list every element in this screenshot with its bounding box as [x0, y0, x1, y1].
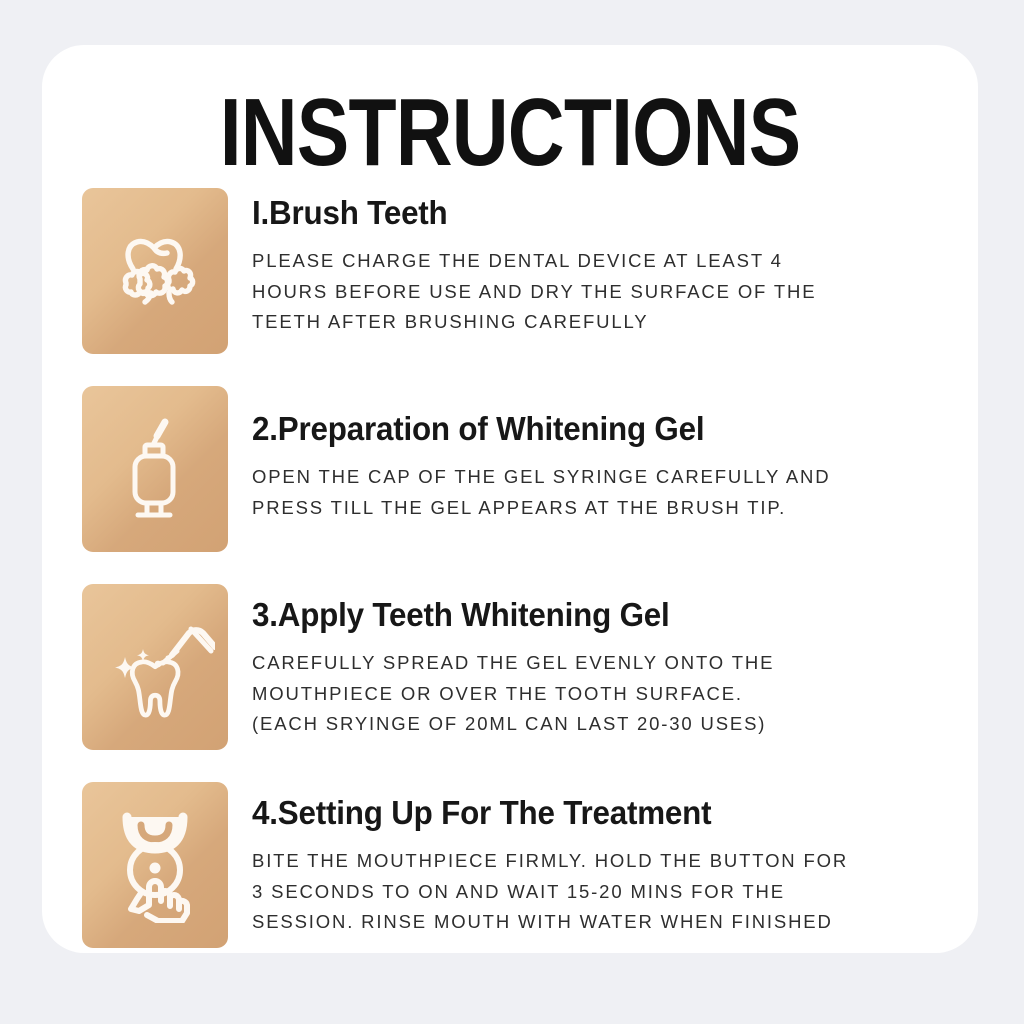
step-heading: 4.Setting Up For The Treatment: [252, 794, 942, 832]
description-line: OPEN THE CAP OF THE GEL SYRINGE CAREFULL…: [252, 462, 978, 493]
tooth-with-gel-applicator-icon: [95, 607, 215, 727]
description-line: SESSION. RINSE MOUTH WITH WATER WHEN FIN…: [252, 907, 978, 938]
description-line: PLEASE CHARGE THE DENTAL DEVICE AT LEAST…: [252, 246, 978, 277]
step-heading: 3.Apply Teeth Whitening Gel: [252, 596, 942, 634]
description-line: PRESS TILL THE GEL APPEARS AT THE BRUSH …: [252, 493, 978, 524]
description-line: (EACH SRYINGE OF 20ML CAN LAST 20-30 USE…: [252, 709, 978, 740]
description-line: TEETH AFTER BRUSHING CAREFULLY: [252, 307, 978, 338]
instructions-card: INSTRUCTIONS: [42, 45, 978, 953]
tooth-with-foam-icon: [107, 223, 203, 319]
step-description: OPEN THE CAP OF THE GEL SYRINGE CAREFULL…: [252, 462, 978, 523]
description-line: CAREFULLY SPREAD THE GEL EVENLY ONTO THE: [252, 648, 978, 679]
step-icon-tile: [82, 584, 228, 750]
description-line: 3 SECONDS TO ON AND WAIT 15-20 MINS FOR …: [252, 877, 978, 908]
instructions-page: INSTRUCTIONS: [0, 0, 1024, 1024]
gel-syringe-icon: [107, 414, 203, 524]
description-line: MOUTHPIECE OR OVER THE TOOTH SURFACE.: [252, 679, 978, 710]
list-item: 3.Apply Teeth Whitening Gel CAREFULLY SP…: [82, 584, 978, 750]
list-item: 4.Setting Up For The Treatment BITE THE …: [82, 782, 978, 948]
list-item: I.Brush Teeth PLEASE CHARGE THE DENTAL D…: [82, 188, 978, 354]
description-line: BITE THE MOUTHPIECE FIRMLY. HOLD THE BUT…: [252, 846, 978, 877]
description-line: HOURS BEFORE USE AND DRY THE SURFACE OF …: [252, 277, 978, 308]
step-icon-tile: [82, 782, 228, 948]
page-title: INSTRUCTIONS: [126, 83, 894, 183]
step-icon-tile: [82, 188, 228, 354]
mouthpiece-button-press-icon: [103, 807, 207, 923]
step-icon-tile: [82, 386, 228, 552]
steps-list: I.Brush Teeth PLEASE CHARGE THE DENTAL D…: [82, 188, 978, 948]
step-text: 2.Preparation of Whitening Gel OPEN THE …: [228, 386, 978, 523]
step-text: I.Brush Teeth PLEASE CHARGE THE DENTAL D…: [228, 188, 978, 338]
step-description: PLEASE CHARGE THE DENTAL DEVICE AT LEAST…: [252, 246, 978, 338]
step-heading: I.Brush Teeth: [252, 194, 942, 232]
step-description: BITE THE MOUTHPIECE FIRMLY. HOLD THE BUT…: [252, 846, 978, 938]
step-description: CAREFULLY SPREAD THE GEL EVENLY ONTO THE…: [252, 648, 978, 740]
step-heading: 2.Preparation of Whitening Gel: [252, 410, 942, 448]
step-text: 4.Setting Up For The Treatment BITE THE …: [228, 782, 978, 938]
step-text: 3.Apply Teeth Whitening Gel CAREFULLY SP…: [228, 584, 978, 740]
list-item: 2.Preparation of Whitening Gel OPEN THE …: [82, 386, 978, 552]
